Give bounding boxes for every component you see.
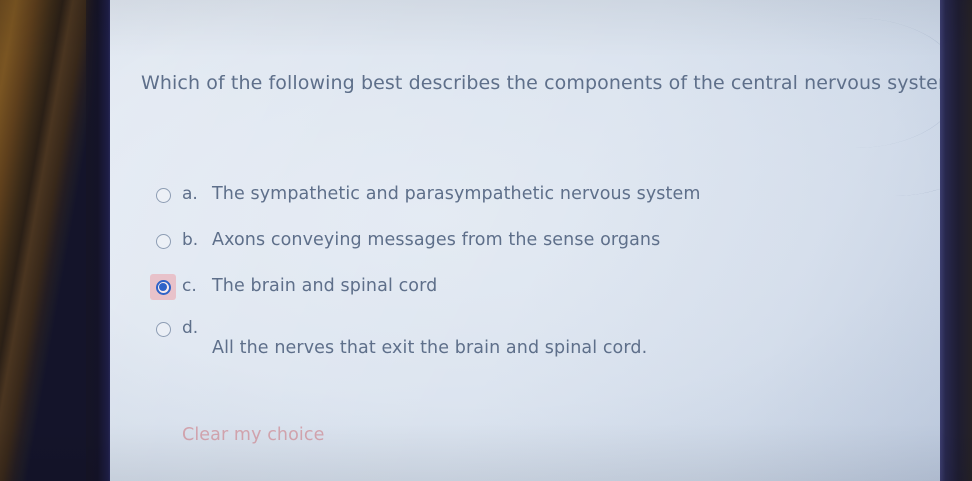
option-a[interactable]: a. The sympathetic and parasympathetic n…: [148, 178, 938, 224]
option-letter-c: c.: [178, 270, 212, 298]
clear-my-choice-link[interactable]: Clear my choice: [182, 424, 324, 446]
monitor-bezel-right: [938, 0, 972, 481]
monitor-bezel-left: [86, 0, 112, 481]
radio-wrap-d[interactable]: [148, 314, 178, 344]
option-letter-d: d.: [178, 316, 212, 340]
radio-wrap-c[interactable]: [148, 272, 178, 302]
radio-button-icon[interactable]: [156, 322, 171, 337]
option-label-b[interactable]: Axons conveying messages from the sense …: [212, 224, 660, 252]
option-c[interactable]: c. The brain and spinal cord: [148, 270, 938, 316]
radio-button-icon[interactable]: [156, 188, 171, 203]
option-b[interactable]: b. Axons conveying messages from the sen…: [148, 224, 938, 270]
radio-button-selected-icon[interactable]: [156, 280, 171, 295]
photo-of-monitor: Which of the following best describes th…: [0, 0, 972, 481]
option-label-c[interactable]: The brain and spinal cord: [212, 270, 437, 298]
option-label-d[interactable]: All the nerves that exit the brain and s…: [212, 316, 647, 360]
monitor-screen: Which of the following best describes th…: [110, 0, 940, 481]
radio-wrap-a[interactable]: [148, 180, 178, 210]
option-d[interactable]: d. All the nerves that exit the brain an…: [148, 316, 938, 362]
option-label-a[interactable]: The sympathetic and parasympathetic nerv…: [212, 178, 700, 206]
option-letter-a: a.: [178, 178, 212, 206]
answer-options-list: a. The sympathetic and parasympathetic n…: [148, 178, 938, 362]
quiz-question-panel: Which of the following best describes th…: [110, 0, 940, 481]
radio-button-icon[interactable]: [156, 234, 171, 249]
radio-wrap-b[interactable]: [148, 226, 178, 256]
question-text: Which of the following best describes th…: [141, 70, 940, 96]
option-letter-b: b.: [178, 224, 212, 252]
